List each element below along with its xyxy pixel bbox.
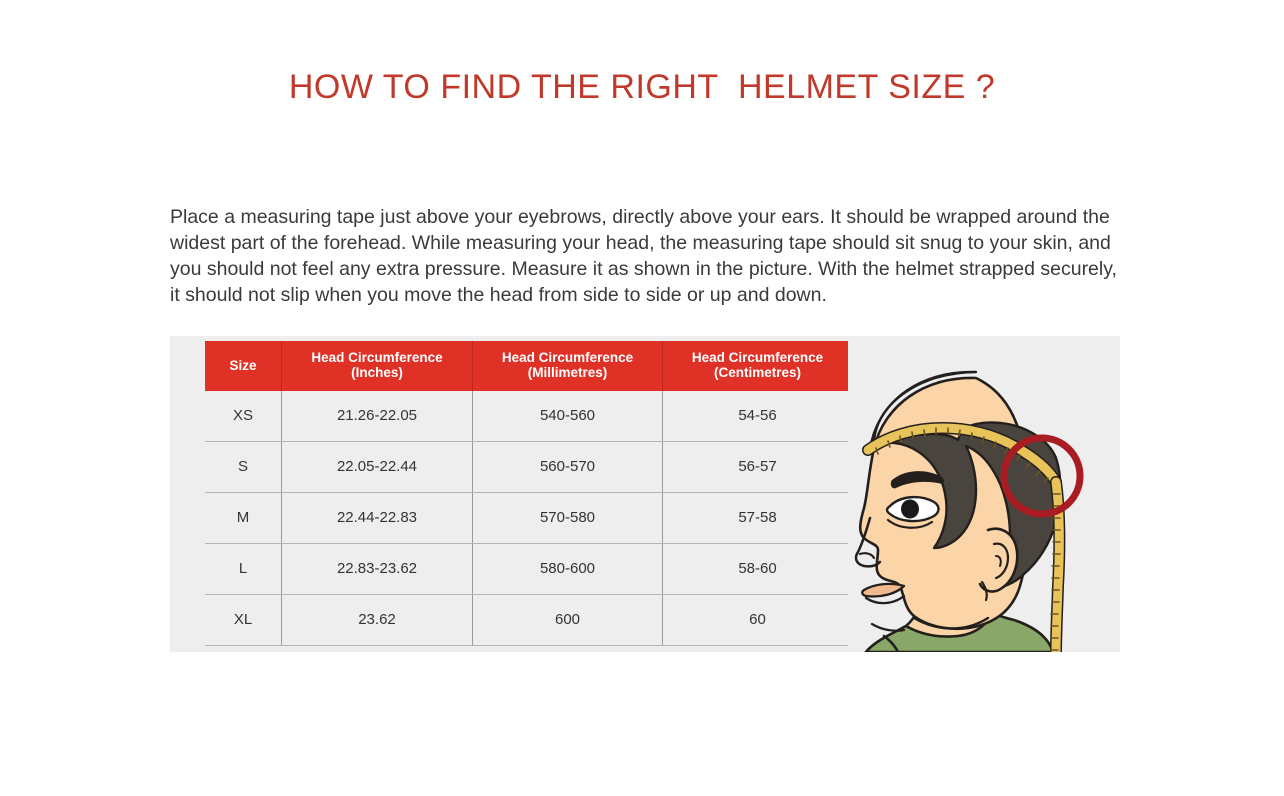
cell-millimetres: 560-570 [473,442,663,493]
column-header-millimetres: Head Circumference (Millimetres) [473,341,663,391]
eye-pupil [901,500,919,519]
cell-inches: 21.26-22.05 [282,391,473,442]
cell-inches: 22.44-22.83 [282,493,473,544]
column-header-inches-line2: (Inches) [351,365,403,380]
table-row: XL 23.62 600 60 [205,595,852,646]
column-header-centimetres-line1: Head Circumference [692,350,823,365]
column-header-centimetres: Head Circumference (Centimetres) [663,341,853,391]
column-header-size-line1: Size [229,358,256,373]
column-header-size: Size [205,341,282,391]
cell-centimetres: 58-60 [663,544,853,595]
cell-centimetres: 56-57 [663,442,853,493]
intro-paragraph: Place a measuring tape just above your e… [170,204,1122,308]
cell-inches: 22.83-23.62 [282,544,473,595]
table-row: L 22.83-23.62 580-600 58-60 [205,544,852,595]
cell-size: M [205,493,282,544]
table-row: M 22.44-22.83 570-580 57-58 [205,493,852,544]
cell-inches: 22.05-22.44 [282,442,473,493]
table-body: XS 21.26-22.05 540-560 54-56 S 22.05-22.… [205,391,852,646]
cell-inches: 23.62 [282,595,473,646]
cell-millimetres: 600 [473,595,663,646]
cell-millimetres: 580-600 [473,544,663,595]
column-header-millimetres-line2: (Millimetres) [528,365,608,380]
cell-size: XS [205,391,282,442]
table-row: XS 21.26-22.05 540-560 54-56 [205,391,852,442]
cell-millimetres: 540-560 [473,391,663,442]
cell-millimetres: 570-580 [473,493,663,544]
helmet-size-table: Size Head Circumference (Inches) Head Ci… [205,341,852,646]
cell-centimetres: 54-56 [663,391,853,442]
column-header-inches-line1: Head Circumference [311,350,442,365]
cell-centimetres: 57-58 [663,493,853,544]
column-header-millimetres-line1: Head Circumference [502,350,633,365]
table-header-row: Size Head Circumference (Inches) Head Ci… [205,341,852,391]
cell-centimetres: 60 [663,595,853,646]
cell-size: L [205,544,282,595]
page-title: HOW TO FIND THE RIGHT HELMET SIZE ? [0,68,1284,107]
table-header: Size Head Circumference (Inches) Head Ci… [205,341,852,391]
cell-size: XL [205,595,282,646]
head-measurement-illustration [848,336,1120,652]
column-header-inches: Head Circumference (Inches) [282,341,473,391]
table-row: S 22.05-22.44 560-570 56-57 [205,442,852,493]
content-panel: Size Head Circumference (Inches) Head Ci… [170,336,1120,652]
column-header-centimetres-line2: (Centimetres) [714,365,801,380]
cell-size: S [205,442,282,493]
